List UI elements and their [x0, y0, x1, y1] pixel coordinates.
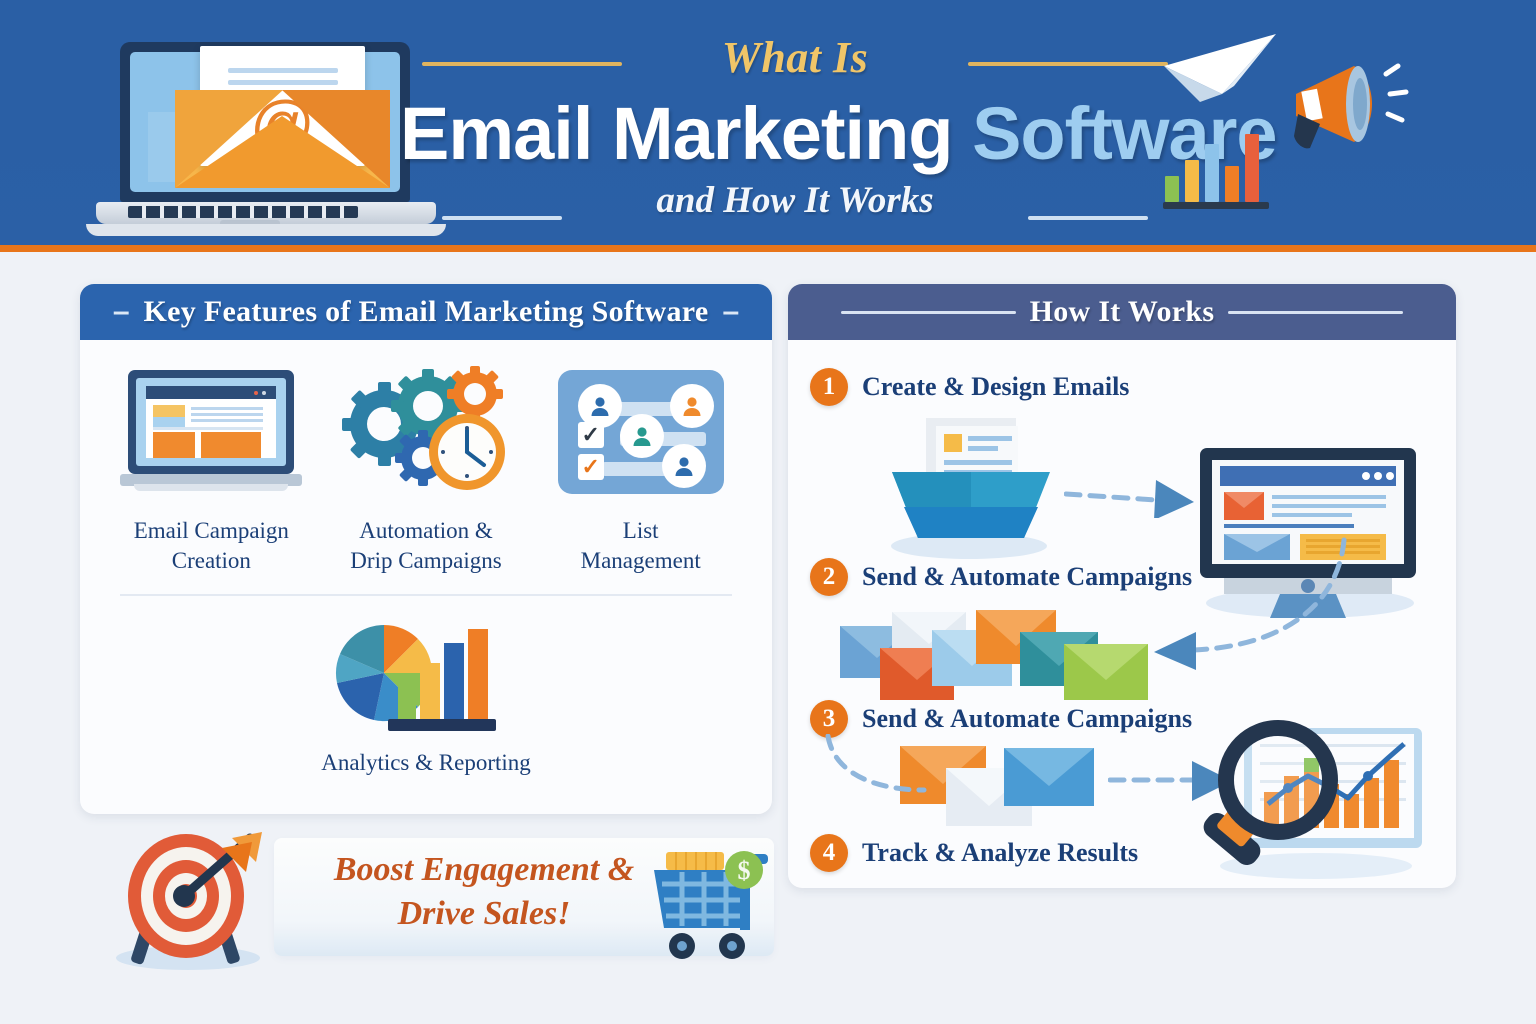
step-4[interactable]: 4 Track & Analyze Results — [810, 834, 1138, 872]
banner-line-2: Drive Sales! — [304, 892, 664, 936]
key-features-header: – Key Features of Email Marketing Softwa… — [80, 284, 772, 340]
header-rule-right — [1228, 311, 1403, 314]
checkbox-checked[interactable]: ✓ — [578, 422, 604, 448]
how-it-works-title: How It Works — [1030, 295, 1215, 329]
header-title-block: What Is Email Marketing Software and How… — [400, 14, 1190, 234]
step-number: 2 — [810, 558, 848, 596]
how-it-works-panel: How It Works 1 Create & Design Emails — [788, 284, 1456, 888]
target-arrow-icon — [110, 832, 270, 972]
contact-list-icon: ✓ ✓ — [533, 362, 748, 502]
header-subtitle: and How It Works — [656, 179, 933, 222]
key-features-panel: – Key Features of Email Marketing Softwa… — [80, 284, 772, 814]
feature-analytics-reporting[interactable]: Analytics & Reporting — [80, 596, 772, 778]
header-dash-right: – — [722, 295, 739, 329]
title-rule-left — [422, 62, 622, 66]
banner-line-1: Boost Engagement & — [304, 848, 664, 892]
bar-chart-icon — [1163, 130, 1273, 210]
feature-label-line2: Drip Campaigns — [319, 546, 534, 576]
feature-label: Automation & Drip Campaigns — [319, 516, 534, 576]
feature-email-campaign-creation[interactable]: Email Campaign Creation — [104, 362, 319, 576]
step-number: 1 — [810, 368, 848, 406]
feature-label-line1: Email Campaign — [104, 516, 319, 546]
feature-list-management[interactable]: ✓ ✓ List Management — [533, 362, 748, 576]
step-label: Send & Automate Campaigns — [862, 704, 1192, 734]
steps-list: 1 Create & Design Emails — [788, 340, 1456, 880]
envelope-cluster-icon — [836, 608, 1166, 708]
inbox-tray-icon — [874, 412, 1064, 562]
gears-clock-icon — [319, 362, 534, 502]
step-3[interactable]: 3 Send & Automate Campaigns — [810, 700, 1192, 738]
subtitle-rule-left — [442, 216, 562, 220]
arrow-step3-curve — [822, 734, 932, 804]
step-1[interactable]: 1 Create & Design Emails — [810, 368, 1129, 406]
key-features-title: Key Features of Email Marketing Software — [144, 295, 709, 329]
feature-label: Analytics & Reporting — [80, 748, 772, 778]
how-it-works-header: How It Works — [788, 284, 1456, 340]
avatar — [620, 414, 664, 458]
banner-text: Boost Engagement & Drive Sales! — [304, 848, 664, 936]
page-title: Email Marketing Software — [400, 91, 1190, 177]
arrow-monitor-to-step2 — [1132, 536, 1352, 676]
magnifier-chart-icon — [1188, 714, 1438, 884]
page-title-main: Email Marketing — [400, 92, 972, 175]
feature-label-line2: Creation — [104, 546, 319, 576]
feature-label-line1: Analytics & Reporting — [80, 748, 772, 778]
arrow-step1-to-monitor — [1064, 478, 1198, 518]
step-number: 4 — [810, 834, 848, 872]
header-eyebrow: What Is — [722, 32, 869, 83]
feature-label-line2: Management — [533, 546, 748, 576]
header-accent-stripe — [0, 245, 1536, 252]
header-dash-left: – — [113, 295, 130, 329]
checkbox-checked[interactable]: ✓ — [578, 454, 604, 480]
feature-label: Email Campaign Creation — [104, 516, 319, 576]
svg-text:$: $ — [738, 856, 751, 885]
pie-bar-chart-icon — [80, 612, 772, 742]
bottom-banner: Boost Engagement & Drive Sales! $ — [104, 826, 776, 976]
feature-label: List Management — [533, 516, 748, 576]
step-number: 3 — [810, 700, 848, 738]
step-label: Create & Design Emails — [862, 372, 1129, 402]
paper-plane-icon — [1160, 30, 1280, 120]
feature-label-line1: Automation & — [319, 516, 534, 546]
page-header: @ What Is Email Marketing Software and H… — [0, 0, 1536, 245]
avatar — [670, 384, 714, 428]
megaphone-icon — [1276, 50, 1436, 160]
feature-label-line1: List — [533, 516, 748, 546]
laptop-email-builder-icon — [104, 362, 319, 502]
subtitle-rule-right — [1028, 216, 1148, 220]
step-label: Track & Analyze Results — [862, 838, 1138, 868]
avatar — [662, 444, 706, 488]
header-rule-left — [841, 311, 1016, 314]
feature-row: Email Campaign Creation — [80, 340, 772, 576]
title-rule-right — [968, 62, 1168, 66]
feature-automation-drip-campaigns[interactable]: Automation & Drip Campaigns — [319, 362, 534, 576]
shopping-cart-dollar-icon: $ — [640, 848, 780, 968]
